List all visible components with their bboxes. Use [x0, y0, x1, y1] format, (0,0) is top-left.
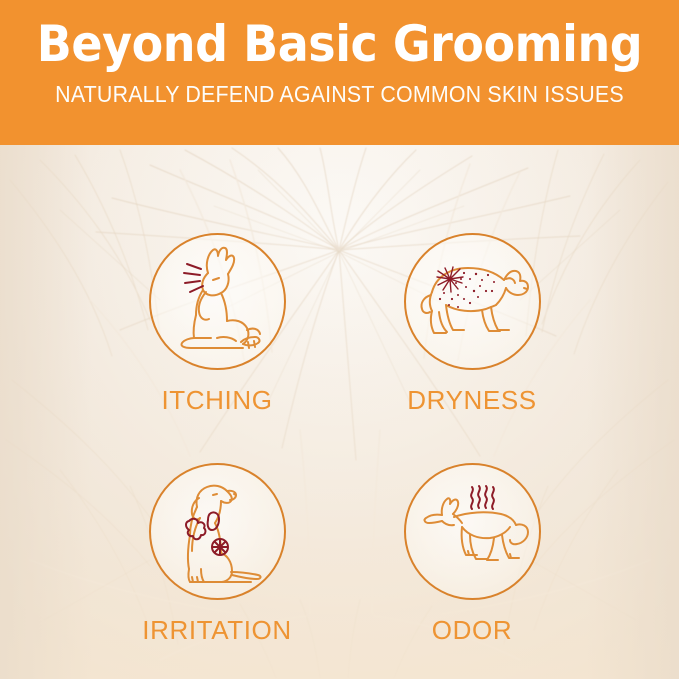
badge-label-odor: ODOR [372, 615, 572, 645]
badge-circle-itching [149, 233, 286, 370]
badge-label-irritation: IRRITATION [117, 615, 317, 645]
dog-scratching-icon [151, 235, 286, 370]
badge-itching[interactable]: ITCHING [117, 233, 317, 415]
badge-circle-dryness [404, 233, 541, 370]
dog-irritated-patches-icon [151, 465, 286, 600]
page-subtitle: NATURALLY DEFEND AGAINST COMMON SKIN ISS… [24, 74, 655, 108]
badge-odor[interactable]: ODOR [372, 463, 572, 645]
dog-flaky-skin-icon [406, 235, 541, 370]
dog-odor-icon [406, 465, 541, 600]
badge-label-dryness: DRYNESS [372, 385, 572, 415]
stink-waves-icon [471, 486, 494, 509]
badge-label-itching: ITCHING [117, 385, 317, 415]
badge-dryness[interactable]: DRYNESS [372, 233, 572, 415]
scratch-lines-icon [184, 264, 203, 292]
badge-irritation[interactable]: IRRITATION [117, 463, 317, 645]
badge-circle-odor [404, 463, 541, 600]
header-banner: Beyond Basic Grooming NATURALLY DEFEND A… [0, 0, 679, 145]
symptom-badge-grid: ITCHING [0, 145, 679, 679]
promo-graphic: Beyond Basic Grooming NATURALLY DEFEND A… [0, 0, 679, 679]
badge-circle-irritation [149, 463, 286, 600]
page-title: Beyond Basic Grooming [27, 0, 652, 74]
